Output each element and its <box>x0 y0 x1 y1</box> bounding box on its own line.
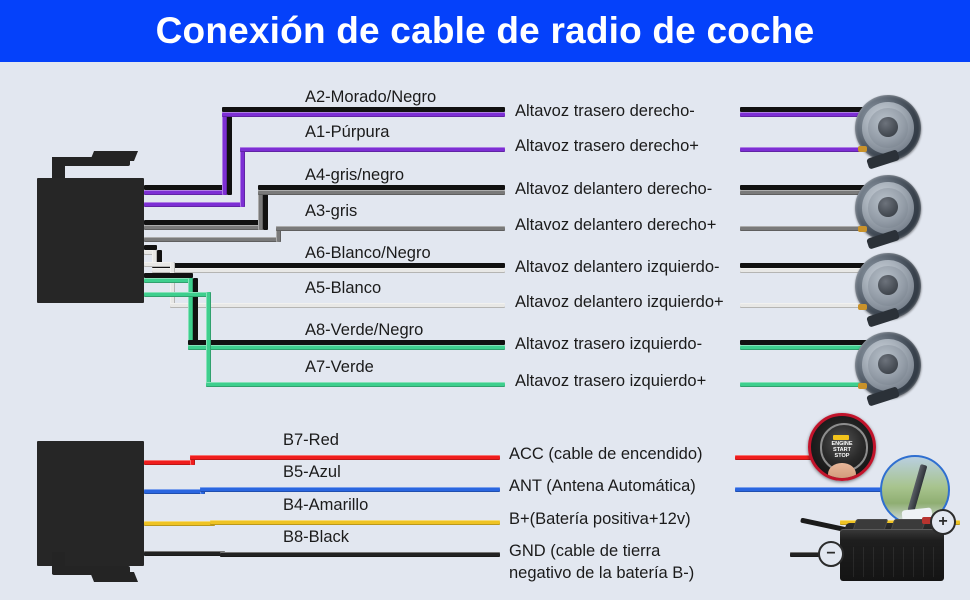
wire-A8-speaker-lead <box>740 345 868 350</box>
wire-label-B8: B8-Black <box>283 527 349 547</box>
wire-A8-exit <box>144 278 193 283</box>
wire-A8-exit-stripe <box>144 273 193 278</box>
wire-A3-exit <box>144 237 281 242</box>
speaker-dustcap <box>878 117 898 137</box>
speaker-function-label-A2: Altavoz trasero derecho- <box>515 101 695 121</box>
ignition-indicator <box>833 435 849 440</box>
page-title-bar: Conexión de cable de radio de coche <box>0 0 970 62</box>
wire-B7-device-lead <box>735 455 812 460</box>
wire-A5-riser <box>170 262 175 308</box>
power-function-label-B8: GND (cable de tierra <box>509 541 660 561</box>
connector-b-latch-post <box>52 552 65 574</box>
speaker-function-label-A7: Altavoz trasero izquierdo+ <box>515 371 706 391</box>
wire-A6-run-stripe <box>152 263 505 268</box>
speaker-function-label-A1: Altavoz trasero derecho+ <box>515 136 699 156</box>
wire-B8-run <box>220 552 500 557</box>
wire-A7-exit <box>144 292 211 297</box>
speaker-front-right <box>855 175 921 241</box>
wire-A5-run <box>170 303 505 308</box>
wire-A2-speaker-lead-stripe <box>740 107 868 112</box>
speaker-dustcap <box>878 275 898 295</box>
wire-A8-run <box>188 345 505 350</box>
speaker-terminal <box>858 146 867 152</box>
wire-label-A5: A5-Blanco <box>305 278 381 298</box>
wire-A7-speaker-lead <box>740 382 868 387</box>
speaker-dustcap <box>878 354 898 374</box>
wire-label-A2: A2-Morado/Negro <box>305 87 436 107</box>
battery-positive-symbol: + <box>930 509 956 535</box>
speaker-function-label-A8: Altavoz trasero izquierdo- <box>515 334 702 354</box>
speaker-terminal <box>858 226 867 232</box>
wire-A1-run <box>240 147 505 152</box>
wire-A5-speaker-lead <box>740 303 868 308</box>
diagram-canvas: Conexión de cable de radio de coche A2-M… <box>0 0 970 600</box>
wire-label-A8: A8-Verde/Negro <box>305 320 423 340</box>
ignition-line-3: STOP <box>811 453 873 459</box>
antenna-mast <box>907 464 927 512</box>
wire-label-B4: B4-Amarillo <box>283 495 368 515</box>
speaker-function-label-A5: Altavoz delantero izquierdo+ <box>515 292 724 312</box>
ignition-start-button-icon: ENGINE START STOP <box>808 413 876 481</box>
wire-A1-speaker-lead <box>740 147 868 152</box>
wire-B8-exit <box>144 551 225 556</box>
power-function-label-B7: ACC (cable de encendido) <box>509 444 703 464</box>
wire-label-A6: A6-Blanco/Negro <box>305 243 431 263</box>
wire-A4-run <box>258 190 505 195</box>
wire-A2-speaker-lead <box>740 112 868 117</box>
wire-B5-device-lead <box>735 487 884 492</box>
wire-A4-speaker-lead-stripe <box>740 185 868 190</box>
page-title: Conexión de cable de radio de coche <box>156 10 815 52</box>
wire-A6-speaker-lead-stripe <box>740 263 868 268</box>
speaker-terminal <box>858 383 867 389</box>
speaker-rear-right <box>855 95 921 161</box>
wire-A4-speaker-lead <box>740 190 868 195</box>
battery-icon <box>840 515 944 581</box>
wire-A7-riser <box>206 292 211 387</box>
wire-label-A1: A1-Púrpura <box>305 122 389 142</box>
speaker-terminal <box>858 304 867 310</box>
connector-a-housing <box>37 178 144 303</box>
wire-B7-run <box>190 455 500 460</box>
power-function-label-B4: B+(Batería positiva+12v) <box>509 509 691 529</box>
speaker-dustcap <box>878 197 898 217</box>
wire-A2-run <box>222 112 505 117</box>
wire-A6-run <box>152 268 505 273</box>
wire-A4-run-stripe <box>258 185 505 190</box>
power-function-label-B5: ANT (Antena Automática) <box>509 476 696 496</box>
wire-label-B7: B7-Red <box>283 430 339 450</box>
wire-A8-speaker-lead-stripe <box>740 340 868 345</box>
wire-A8-run-stripe <box>188 340 505 345</box>
wire-A3-run <box>276 226 505 231</box>
wire-A7-run <box>206 382 505 387</box>
wire-A4-riser-stripe <box>263 190 268 230</box>
wire-A2-riser-stripe <box>227 112 232 195</box>
wire-B4-exit <box>144 521 215 526</box>
speaker-front-left <box>855 253 921 319</box>
battery-ribs <box>844 547 940 577</box>
wire-A4-exit <box>144 225 263 230</box>
speaker-rear-left <box>855 332 921 398</box>
wire-A1-exit <box>144 202 245 207</box>
power-function-label-B8-line2: negativo de la batería B-) <box>509 563 694 583</box>
wire-A2-exit <box>144 190 227 195</box>
finger-icon <box>828 463 855 481</box>
wire-label-B5: B5-Azul <box>283 462 341 482</box>
connector-b-housing <box>37 441 144 566</box>
wire-A2-exit-stripe <box>144 185 227 190</box>
connector-a-latch-tip <box>90 151 138 161</box>
battery-negative-symbol: − <box>818 541 844 567</box>
wire-A3-speaker-lead <box>740 226 868 231</box>
wire-label-A7: A7-Verde <box>305 357 374 377</box>
wire-B7-exit <box>144 460 195 465</box>
speaker-function-label-A6: Altavoz delantero izquierdo- <box>515 257 720 277</box>
wire-A2-run-stripe <box>222 107 505 112</box>
speaker-function-label-A3: Altavoz delantero derecho+ <box>515 215 716 235</box>
wire-A1-riser <box>240 147 245 207</box>
connector-b-latch-tip <box>90 572 138 582</box>
ignition-button-text: ENGINE START STOP <box>811 441 873 460</box>
wire-B5-exit <box>144 489 205 494</box>
wire-B4-run <box>210 520 500 525</box>
wire-A4-exit-stripe <box>144 220 263 225</box>
wire-label-A4: A4-gris/negro <box>305 165 404 185</box>
connector-a-latch-post <box>52 157 65 179</box>
speaker-function-label-A4: Altavoz delantero derecho- <box>515 179 712 199</box>
wire-label-A3: A3-gris <box>305 201 357 221</box>
wire-B5-run <box>200 487 500 492</box>
wire-A6-speaker-lead <box>740 268 868 273</box>
